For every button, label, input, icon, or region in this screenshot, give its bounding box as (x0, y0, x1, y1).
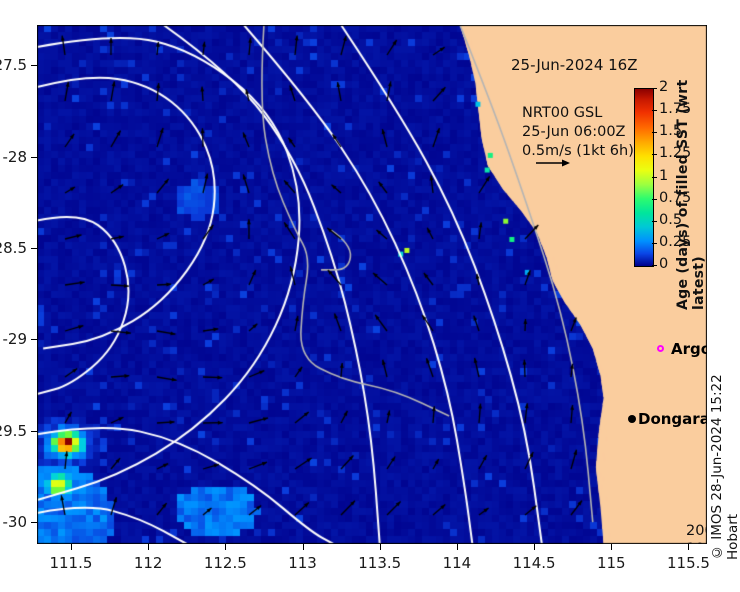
x-tickmark (303, 544, 304, 550)
colorbar-tick-label: 0 (659, 256, 668, 272)
y-tick-label: -29 (0, 330, 27, 348)
y-tick-label: -27.5 (0, 56, 27, 74)
sst-age-heatmap (37, 25, 707, 544)
y-tick-label: -29.5 (0, 422, 27, 440)
bathymetry-label-200: 200m (686, 522, 707, 540)
y-tick-label: -28.5 (0, 239, 27, 257)
colorbar-tickmark (652, 110, 657, 111)
colorbar (634, 88, 654, 267)
y-tickmark (31, 522, 37, 523)
x-tick-label: 112 (113, 554, 183, 572)
x-tickmark (148, 544, 149, 550)
colorbar-tick-label: 0.5 (659, 212, 682, 228)
bathymetry-legend: 200m 1000m (686, 522, 707, 544)
y-tick-label: -28 (0, 148, 27, 166)
colorbar-tick-label: 1 (659, 168, 668, 184)
copyright-notice: © IMOS 28-Jun-2024 15:22 Hobart (716, 330, 734, 560)
colorbar-tick-label: 2 (659, 79, 668, 95)
colorbar-gradient (635, 89, 653, 266)
x-tick-label: 114.5 (499, 554, 569, 572)
x-tick-label: 114 (422, 554, 492, 572)
y-tickmark (31, 431, 37, 432)
colorbar-tick-label: 1.25 (659, 145, 691, 161)
y-tickmark (31, 65, 37, 66)
colorbar-tickmark (652, 88, 657, 89)
x-tick-label: 113 (268, 554, 338, 572)
x-tickmark (688, 544, 689, 550)
velocity-legend-source: NRT00 GSL (522, 104, 634, 123)
colorbar-tickmark (652, 221, 657, 222)
colorbar-tick-label: 1.75 (659, 101, 691, 117)
velocity-legend-time: 25-Jun 06:00Z (522, 123, 634, 142)
date-stamp: 25-Jun-2024 16Z (511, 56, 638, 74)
colorbar-tickmark (652, 132, 657, 133)
velocity-legend: NRT00 GSL 25-Jun 06:00Z 0.5m/s (1kt 6h) (522, 104, 634, 161)
colorbar-tick-label: 0.25 (659, 234, 691, 250)
argo-marker-icon (657, 345, 664, 352)
x-tickmark (611, 544, 612, 550)
dongara-label: Dongara (638, 410, 707, 428)
colorbar-tickmark (652, 243, 657, 244)
colorbar-tickmark (652, 154, 657, 155)
x-tickmark (457, 544, 458, 550)
x-tick-label: 115 (576, 554, 646, 572)
colorbar-tick-label: 1.5 (659, 123, 682, 139)
right-arrow-icon (536, 158, 570, 168)
x-tickmark (225, 544, 226, 550)
colorbar-tickmark (652, 265, 657, 266)
colorbar-title: Age (days) of filled SST (wrt latest) (680, 40, 702, 310)
colorbar-tickmark (652, 177, 657, 178)
y-tickmark (31, 339, 37, 340)
y-tickmark (31, 248, 37, 249)
y-tick-label: -30 (0, 513, 27, 531)
argo-label: Argo (671, 340, 707, 358)
x-tick-label: 112.5 (190, 554, 260, 572)
dongara-marker-icon (628, 415, 636, 423)
y-tickmark (31, 157, 37, 158)
x-tickmark (71, 544, 72, 550)
map-plot-area: 25-Jun-2024 16Z NRT00 GSL 25-Jun 06:00Z … (37, 25, 707, 544)
x-tickmark (534, 544, 535, 550)
colorbar-tickmark (652, 199, 657, 200)
colorbar-tick-label: 0.75 (659, 190, 691, 206)
x-tick-label: 111.5 (36, 554, 106, 572)
x-tick-label: 113.5 (345, 554, 415, 572)
x-tickmark (380, 544, 381, 550)
